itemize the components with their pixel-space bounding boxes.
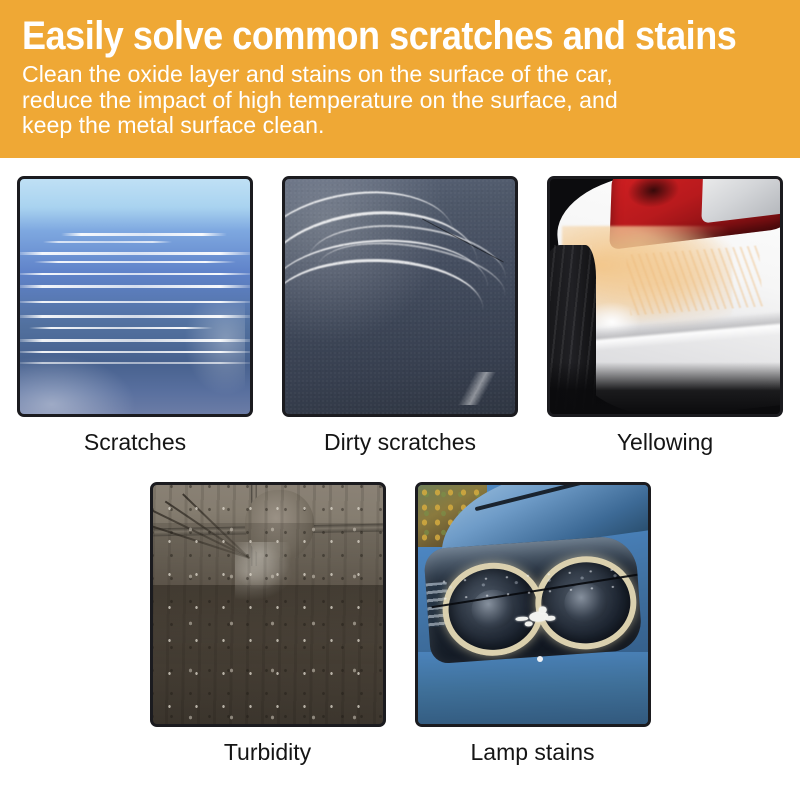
banner-subtitle-line-2: reduce the impact of high temperature on… xyxy=(22,88,771,114)
banner-subtitle: Clean the oxide layer and stains on the … xyxy=(22,62,771,139)
gallery-row-bottom: Turbidity xyxy=(0,482,800,765)
gallery-card-yellowing[interactable]: Yellowing xyxy=(547,176,783,455)
gallery-card-dirty-scratches[interactable]: Dirty scratches xyxy=(282,176,518,455)
problem-gallery: Scratches Dirty scratches xyxy=(0,158,800,800)
gallery-row-top: Scratches Dirty scratches xyxy=(0,176,800,455)
product-infographic-page: Easily solve common scratches and stains… xyxy=(0,0,800,800)
muddy-wet-panel-turbidity-photo xyxy=(150,482,386,727)
gallery-card-caption: Turbidity xyxy=(224,739,311,765)
blue-paint-horizontal-scratches-photo xyxy=(17,176,253,417)
blue-car-headlight-white-stain-photo xyxy=(415,482,651,727)
gallery-card-turbidity[interactable]: Turbidity xyxy=(150,482,386,765)
dark-metallic-paint-curved-scratches-photo xyxy=(282,176,518,417)
gallery-card-caption: Scratches xyxy=(84,429,186,455)
gallery-card-caption: Yellowing xyxy=(617,429,713,455)
gallery-card-caption: Dirty scratches xyxy=(324,429,476,455)
banner-subtitle-line-3: keep the metal surface clean. xyxy=(22,113,771,139)
gallery-card-caption: Lamp stains xyxy=(470,739,594,765)
gallery-card-scratches[interactable]: Scratches xyxy=(17,176,253,455)
banner-title: Easily solve common scratches and stains xyxy=(22,14,706,58)
header-banner: Easily solve common scratches and stains… xyxy=(0,0,800,158)
white-bumper-yellow-stain-taillight-photo xyxy=(547,176,783,417)
gallery-card-lamp-stains[interactable]: Lamp stains xyxy=(415,482,651,765)
banner-subtitle-line-1: Clean the oxide layer and stains on the … xyxy=(22,62,771,88)
